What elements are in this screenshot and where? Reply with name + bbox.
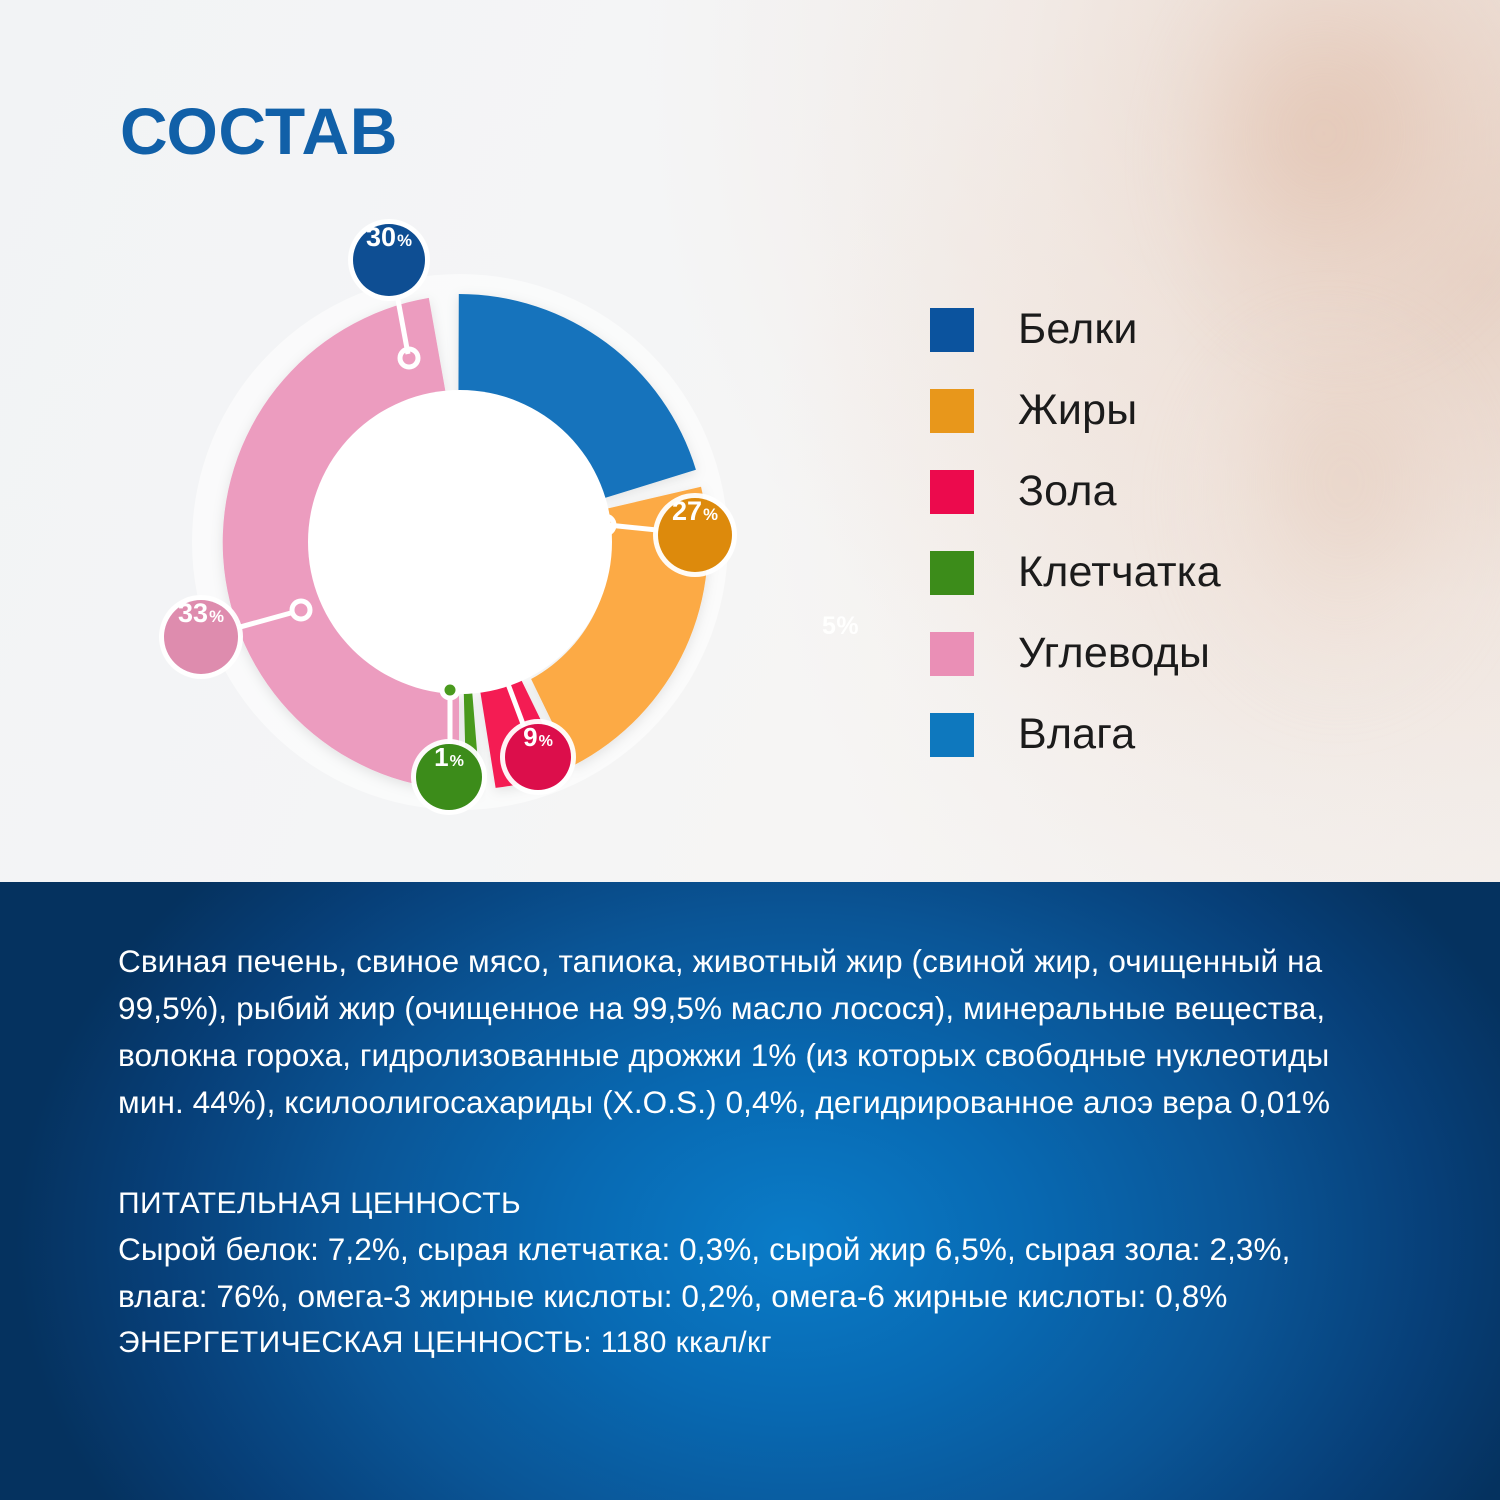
donut-chart-svg — [180, 262, 740, 822]
legend-label-protein: Белки — [1018, 305, 1138, 354]
badge-protein-value: 30 — [366, 224, 396, 251]
composition-infographic: СОСТАВ — [0, 0, 1500, 1500]
badge-ash-value: 9 — [523, 724, 537, 750]
badge-carbs-sign: % — [209, 609, 224, 626]
legend-item-ash: Зола — [930, 467, 1221, 516]
background-photo-blur-top — [1180, 0, 1500, 370]
legend-item-carbs: Углеводы — [930, 629, 1221, 678]
nutrition-body: Сырой белок: 7,2%, сырая клетчатка: 0,3%… — [118, 1226, 1333, 1320]
info-panel: Свиная печень, свиное мясо, тапиока, жив… — [0, 882, 1500, 1500]
nutrition-heading: ПИТАТЕЛЬНАЯ ЦЕННОСТЬ — [118, 1182, 1382, 1226]
badge-fiber-value: 1 — [434, 744, 448, 770]
badge-protein: 30% — [353, 224, 425, 296]
legend-label-fat: Жиры — [1018, 386, 1137, 435]
legend-label-moisture: Влага — [1018, 710, 1135, 759]
legend-item-moisture: Влага — [930, 710, 1221, 759]
legend-swatch-ash — [930, 470, 974, 514]
legend-swatch-moisture — [930, 713, 974, 757]
badge-fiber: 1% — [416, 744, 482, 810]
donut-center-hole — [308, 390, 612, 694]
ghost-moisture-label: 5% — [822, 612, 859, 641]
legend-label-fiber: Клетчатка — [1018, 548, 1221, 597]
donut-chart: 30% 27% 9% 1% 33% — [180, 262, 740, 822]
legend-item-protein: Белки — [930, 305, 1221, 354]
background-photo-blur-bottom — [1180, 330, 1480, 710]
chart-legend: Белки Жиры Зола Клетчатка Углеводы Влага — [930, 305, 1221, 759]
badge-carbs-value: 33 — [178, 600, 208, 627]
legend-swatch-protein — [930, 308, 974, 352]
badge-protein-sign: % — [397, 233, 412, 250]
legend-label-ash: Зола — [1018, 467, 1117, 516]
badge-fat: 27% — [658, 498, 732, 572]
badge-fiber-sign: % — [450, 753, 464, 769]
nutrition-block: ПИТАТЕЛЬНАЯ ЦЕННОСТЬ Сырой белок: 7,2%, … — [118, 1182, 1382, 1366]
badge-ash-sign: % — [539, 733, 553, 749]
badge-fat-sign: % — [703, 507, 718, 524]
legend-swatch-fat — [930, 389, 974, 433]
ghost-moisture-value: 5 — [822, 612, 836, 640]
legend-label-carbs: Углеводы — [1018, 629, 1210, 678]
energy-value-line: ЭНЕРГЕТИЧЕСКАЯ ЦЕННОСТЬ: 1180 ккал/кг — [118, 1320, 1382, 1366]
legend-swatch-carbs — [930, 632, 974, 676]
ingredients-text: Свиная печень, свиное мясо, тапиока, жив… — [118, 938, 1373, 1126]
page-title: СОСТАВ — [120, 98, 398, 164]
ghost-moisture-sign: % — [836, 612, 859, 640]
badge-carbs: 33% — [164, 600, 238, 674]
badge-fat-value: 27 — [672, 498, 702, 525]
legend-item-fat: Жиры — [930, 386, 1221, 435]
legend-item-fiber: Клетчатка — [930, 548, 1221, 597]
legend-swatch-fiber — [930, 551, 974, 595]
badge-ash: 9% — [505, 724, 571, 790]
